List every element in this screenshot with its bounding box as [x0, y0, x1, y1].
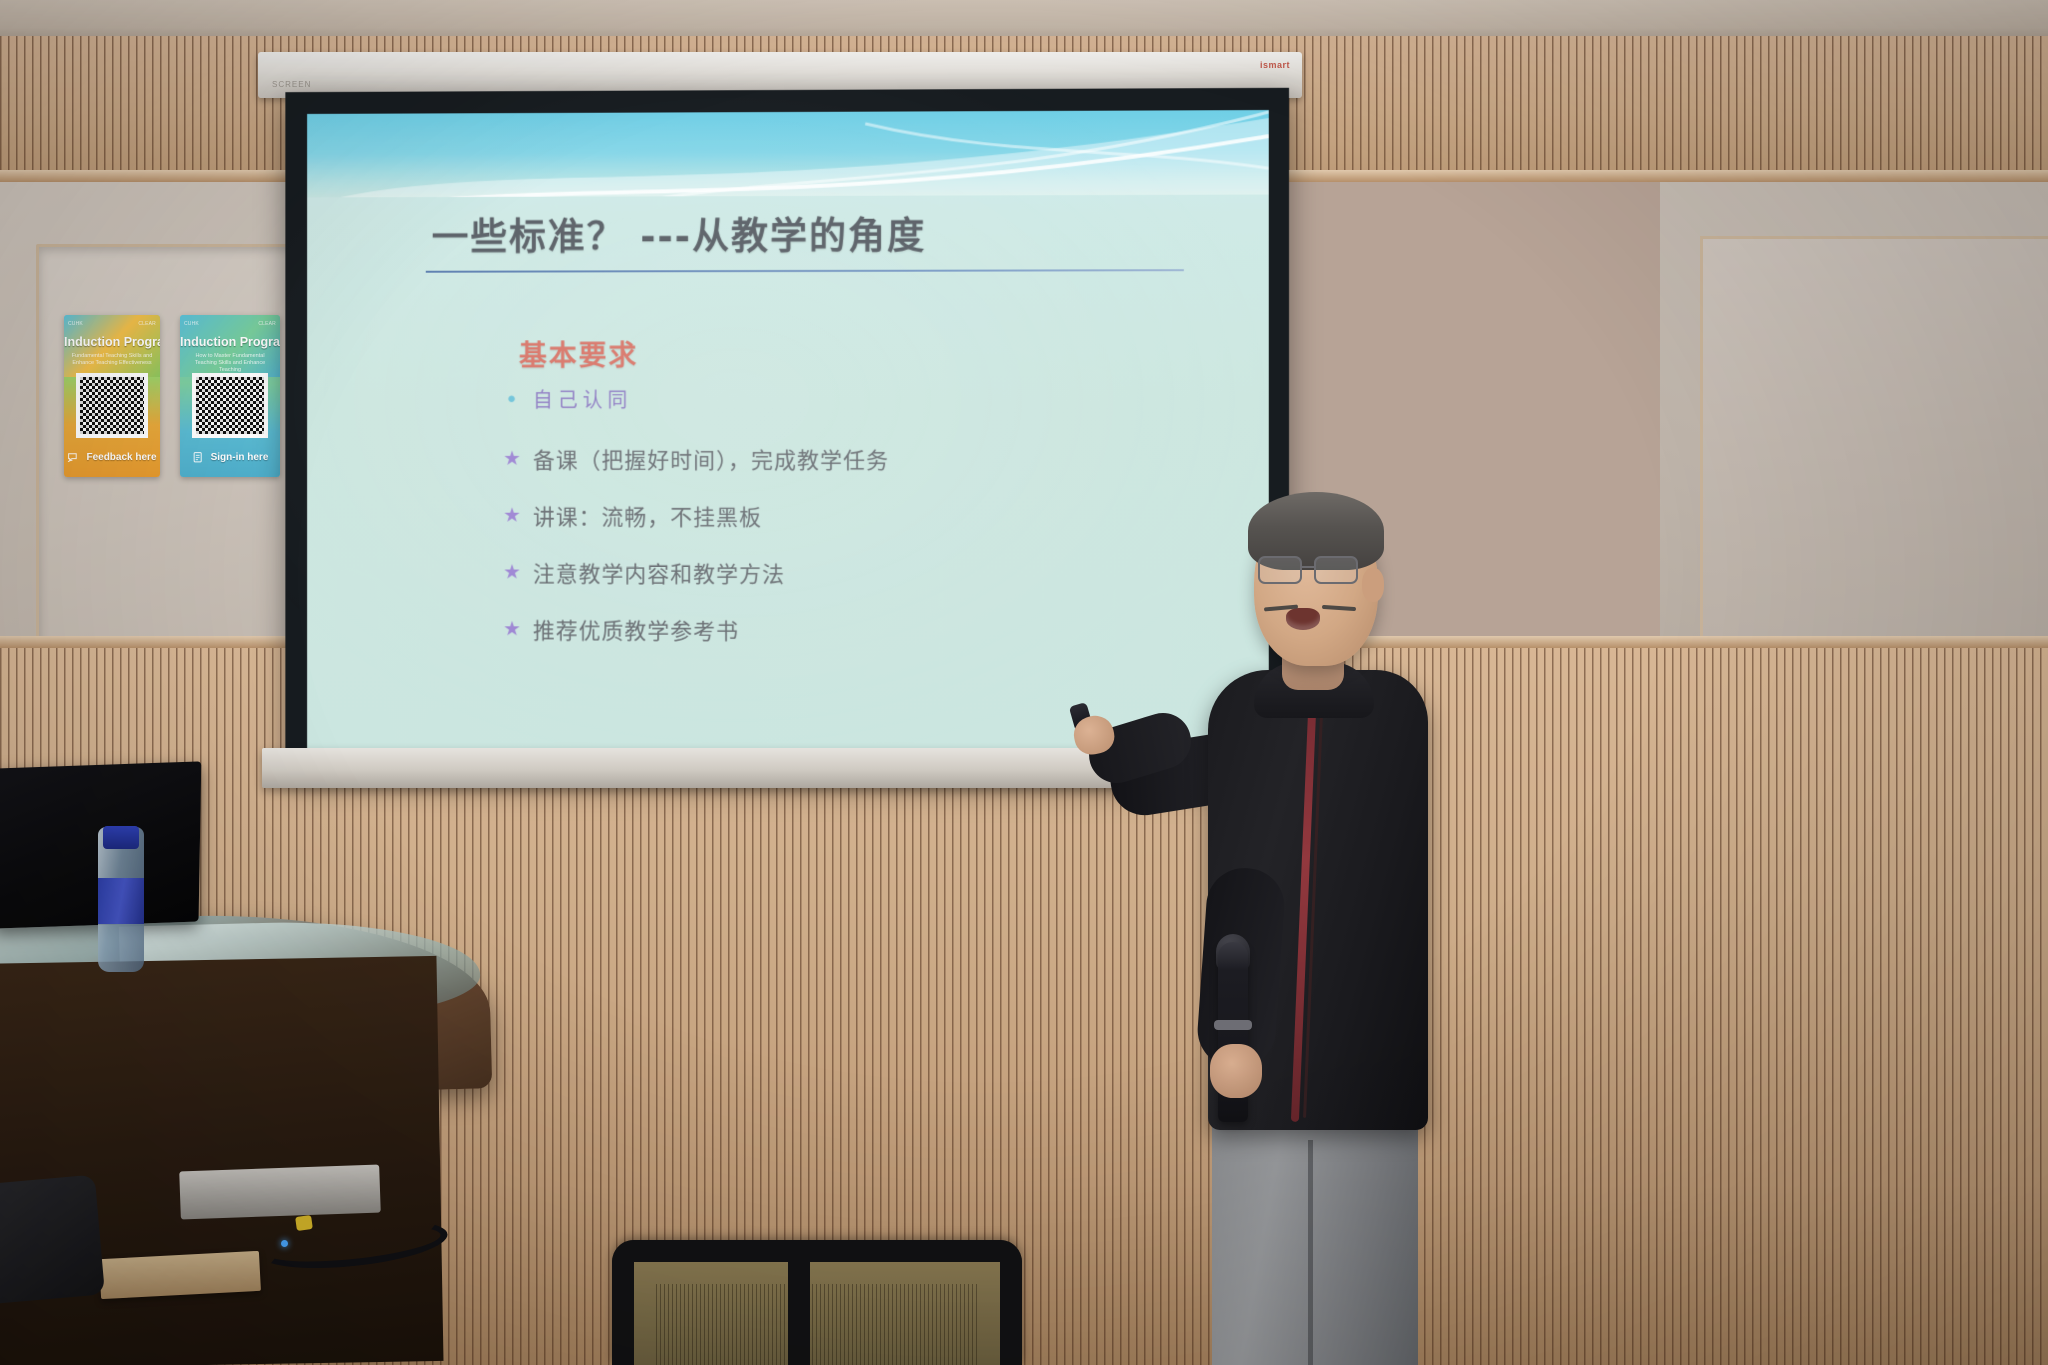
table-surface-shadow	[0, 956, 443, 1365]
poster-brand-right: CLEAR	[258, 321, 276, 327]
poster-title: Induction Program	[64, 335, 160, 349]
chair-mesh-back	[656, 1284, 978, 1365]
qr-code-icon[interactable]	[76, 373, 149, 438]
bag	[0, 1175, 105, 1306]
eyeglasses-icon	[1252, 552, 1384, 586]
slide-title-rule	[426, 269, 1184, 273]
poster-footer-label: Feedback here	[86, 452, 156, 463]
bullet-text: 自己认同	[533, 384, 632, 413]
slide-section-heading: 基本要求	[519, 334, 638, 374]
list-item: ● 自己认同	[503, 384, 1265, 413]
slide-title: 一些标准？ ---从教学的角度	[432, 206, 926, 261]
star-bullet-icon: ★	[503, 563, 533, 583]
projection-screen: 一些标准？ ---从教学的角度 基本要求 ● 自己认同 ★ 备课（把握好时间），…	[285, 88, 1289, 780]
slide-canvas: 一些标准？ ---从教学的角度 基本要求 ● 自己认同 ★ 备课（把握好时间），…	[307, 110, 1269, 762]
notepad	[99, 1251, 261, 1299]
bullet-text: 备课（把握好时间），完成教学任务	[533, 443, 889, 475]
presenter-trousers	[1212, 1098, 1418, 1365]
feedback-hand-icon	[67, 451, 80, 464]
star-bullet-icon: ★	[503, 506, 533, 526]
chair-center-bar	[788, 1260, 810, 1365]
poster-brand-row: CUHK CLEAR	[184, 318, 276, 329]
poster-header: CUHK CLEAR Induction Program How to Mast…	[180, 315, 280, 377]
poster-brand-row: CUHK CLEAR	[68, 318, 156, 329]
poster-brand-left: CUHK	[68, 321, 83, 327]
poster-header: CUHK CLEAR Induction Program Fundamental…	[64, 315, 160, 377]
star-bullet-icon: ★	[503, 619, 533, 639]
lecture-hall-scene: CUHK CLEAR Induction Program Fundamental…	[0, 0, 2048, 1365]
presenter-mouth	[1286, 608, 1320, 630]
qr-code-icon[interactable]	[192, 373, 268, 438]
poster-subtitle: How to Master Fundamental Teaching Skill…	[186, 353, 274, 374]
water-bottle-cap	[103, 826, 139, 849]
chair-frame	[612, 1240, 1022, 1365]
poster-subtitle: Fundamental Teaching Skills and Enhance …	[70, 353, 154, 367]
laptop-base[interactable]	[179, 1165, 381, 1220]
poster-induction-feedback[interactable]: CUHK CLEAR Induction Program Fundamental…	[64, 315, 160, 477]
poster-title: Induction Program	[180, 335, 280, 349]
trouser-seam	[1308, 1140, 1313, 1365]
dot-bullet-icon: ●	[503, 391, 533, 406]
microphone-grip-ring	[1214, 1020, 1252, 1030]
eyeglass-bridge	[1302, 566, 1316, 568]
presenter-left-hand	[1210, 1044, 1262, 1098]
water-bottle-label	[98, 878, 144, 924]
poster-brand-right: CLEAR	[138, 321, 156, 327]
sign-in-form-icon	[192, 451, 205, 464]
star-bullet-icon: ★	[503, 449, 533, 469]
bullet-text: 推荐优质教学参考书	[533, 613, 739, 645]
poster-induction-signin[interactable]: CUHK CLEAR Induction Program How to Mast…	[180, 315, 280, 477]
poster-brand-left: CUHK	[184, 321, 199, 327]
slide-header-band	[307, 110, 1269, 197]
presenter	[1150, 490, 1500, 1365]
cable-tag	[295, 1215, 313, 1231]
housing-side-badge: ismart	[1260, 60, 1290, 70]
bullet-text: 注意教学内容和教学方法	[533, 557, 785, 589]
chair[interactable]	[612, 1240, 1022, 1365]
poster-footer: Sign-in here	[180, 438, 280, 477]
poster-footer-label: Sign-in here	[211, 452, 269, 463]
eyeglass-lens-left	[1258, 556, 1302, 584]
decorative-swoosh	[307, 110, 1269, 197]
eyeglass-lens-right	[1314, 556, 1358, 584]
housing-brand-label: SCREEN	[272, 80, 311, 89]
poster-footer: Feedback here	[64, 438, 160, 477]
list-item: ★ 备课（把握好时间），完成教学任务	[503, 443, 1265, 475]
bullet-text: 讲课：流畅，不挂黑板	[533, 500, 762, 532]
